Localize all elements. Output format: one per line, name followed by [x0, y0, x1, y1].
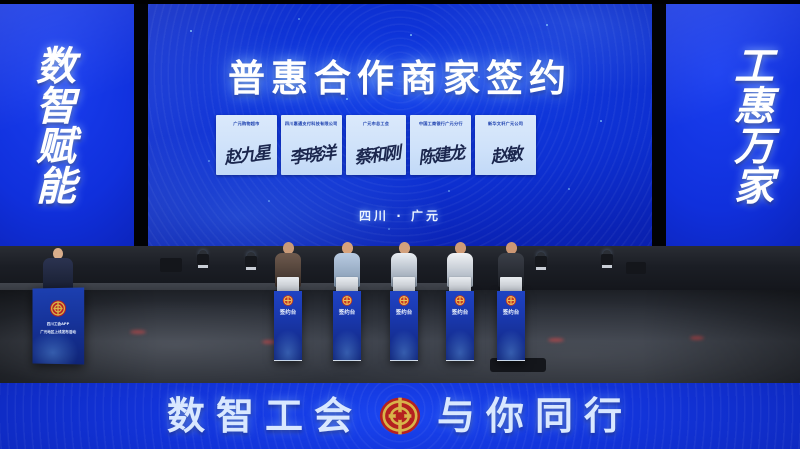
signing-desk: 签约台	[390, 291, 418, 361]
signature-card: 广元购物超市 赵九星	[216, 115, 277, 175]
host-podium: 四川工会APP 广元地区上线发布活动	[32, 287, 84, 364]
banner-left-text: 数智工会	[167, 397, 363, 435]
signing-desk: 签约台	[274, 291, 302, 361]
signer-laptop	[336, 277, 358, 292]
union-emblem-icon	[455, 295, 466, 306]
union-emblem-icon	[506, 295, 517, 306]
signer-laptop	[393, 277, 415, 292]
handwritten-signature: 赵九星	[216, 131, 277, 174]
signing-desk-base	[390, 360, 418, 361]
signature-card-org: 中国工商银行广元分行	[410, 115, 471, 126]
signing-desk-label: 签约台	[333, 309, 361, 317]
signature-card: 四川惠通支付科技有限公司 李晓洋	[281, 115, 342, 175]
podium-title-line1: 四川工会APP	[32, 321, 84, 328]
signature-card: 广元市总工会 蔡和刚	[346, 115, 407, 175]
screen-location-subtitle: 四川 · 广元	[148, 207, 652, 224]
left-banner-vertical-text: 数智赋能	[28, 6, 76, 244]
signer-laptop	[277, 277, 299, 292]
screen-main-title: 普惠合作商家签约	[148, 48, 652, 102]
screen-seam-left	[134, 0, 148, 247]
signing-desk-base	[446, 360, 474, 361]
moving-head-light-icon	[196, 250, 210, 268]
union-emblem-icon	[399, 295, 410, 306]
union-emblem-icon	[342, 295, 353, 306]
signature-card-org: 广元购物超市	[216, 115, 277, 126]
signer-laptop	[500, 277, 522, 292]
left-led-banner-panel: 数智赋能	[0, 0, 136, 246]
signing-desk-base	[274, 360, 302, 361]
signing-desk: 签约台	[497, 291, 525, 361]
signing-desk: 签约台	[333, 291, 361, 361]
moving-head-light-icon	[244, 252, 258, 270]
signing-desk-label: 签约台	[390, 309, 418, 317]
top-letterbox-edge	[0, 0, 800, 4]
bottom-led-banner: 数智工会 与你同行	[0, 383, 800, 449]
signing-desk: 签约台	[446, 291, 474, 361]
signing-desk-label: 签约台	[274, 309, 302, 317]
signature-card-org: 广元市总工会	[346, 115, 407, 126]
handwritten-signature: 赵敏	[475, 131, 536, 174]
signing-desk-base	[333, 360, 361, 361]
union-emblem-icon	[283, 295, 294, 306]
stage-monitor-speaker	[626, 262, 646, 274]
signature-card: 中国工商银行广元分行 陈建龙	[410, 115, 471, 175]
stage-photo: 数智赋能 工惠万家 普惠合作商家签约 广元购物超市 赵九星 四川惠通支付科技有限…	[0, 0, 800, 449]
signature-cards-row: 广元购物超市 赵九星 四川惠通支付科技有限公司 李晓洋 广元市总工会 蔡和刚 中…	[216, 115, 536, 175]
signing-desk-label: 签约台	[446, 309, 474, 317]
right-banner-vertical-text: 工惠万家	[726, 6, 774, 244]
banner-right-text: 与你同行	[437, 397, 633, 435]
stage-monitor-speaker	[160, 258, 182, 272]
signing-desk-base	[497, 360, 525, 361]
union-emblem-icon	[50, 300, 67, 317]
signing-desk-label: 签约台	[497, 309, 525, 317]
handwritten-signature: 李晓洋	[281, 131, 342, 174]
moving-head-light-icon	[600, 250, 614, 268]
signature-card-org: 四川惠通支付科技有限公司	[281, 115, 342, 126]
podium-title-line2: 广元地区上线发布活动	[32, 329, 84, 336]
union-emblem-icon	[379, 395, 421, 437]
signature-card-org: 新华文轩广元公司	[475, 115, 536, 126]
handwritten-signature: 陈建龙	[410, 131, 471, 174]
screen-seam-right	[652, 0, 666, 247]
signature-card: 新华文轩广元公司 赵敏	[475, 115, 536, 175]
handwritten-signature: 蔡和刚	[346, 131, 407, 174]
moving-head-light-icon	[534, 252, 548, 270]
right-led-banner-panel: 工惠万家	[664, 0, 800, 246]
signer-laptop	[449, 277, 471, 292]
